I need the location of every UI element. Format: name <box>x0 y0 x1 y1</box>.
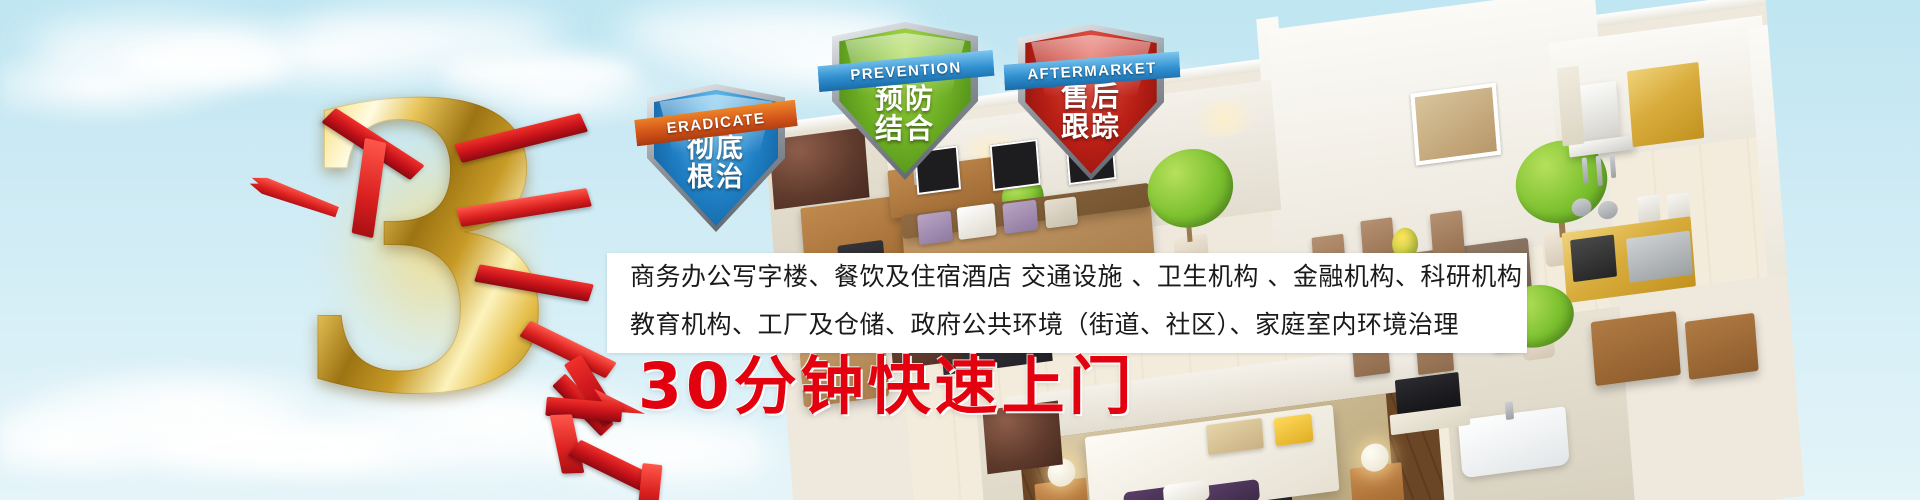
ribbon-arrow-tail-end <box>638 463 663 500</box>
wall-cabinet-gold <box>1627 62 1704 147</box>
sink-basin <box>1626 231 1693 283</box>
service-scope-panel: 商务办公写字楼、餐饮及住宿酒店 交通设施 、卫生机构 、金融机构、科研机构 教育… <box>607 253 1527 353</box>
service-scope-line-2: 教育机构、工厂及仓储、政府公共环境（街道、社区）、家庭室内环境治理 <box>607 301 1527 349</box>
sofa-cushion <box>957 203 997 240</box>
service-scope-line-1: 商务办公写字楼、餐饮及住宿酒店 交通设施 、卫生机构 、金融机构、科研机构 <box>607 253 1527 301</box>
shield-chinese-line2: 跟踪 <box>1018 112 1164 142</box>
side-cabinet <box>1591 311 1681 386</box>
golden-three-graphic: 3 <box>262 78 592 458</box>
shield-chinese-text: 售后 跟踪 <box>1018 82 1164 142</box>
shield-chinese-text: 彻底 根治 <box>647 134 785 192</box>
shield-eradicate: 彻底 根治 ERADICATE <box>647 84 785 232</box>
built-in-oven <box>1570 234 1617 282</box>
golden-three-digit: 3 <box>262 36 592 466</box>
sofa-cushion <box>1044 196 1078 228</box>
shield-banner-label: AFTERMARKET <box>1027 59 1157 83</box>
shield-chinese-line2: 根治 <box>647 163 785 192</box>
sofa-cushion <box>1002 200 1038 234</box>
shield-chinese-text: 预防 结合 <box>832 84 978 144</box>
bath-fixture <box>1505 401 1514 420</box>
bed-throw-yellow <box>1274 413 1314 446</box>
shield-prevention: 预防 结合 PREVENTION <box>832 22 978 180</box>
shield-banner-label: PREVENTION <box>850 59 962 84</box>
shield-chinese-line2: 结合 <box>832 114 978 144</box>
sofa-cushion <box>917 211 953 245</box>
headline-text: 30分钟快速上门 <box>638 355 1136 418</box>
shield-aftermarket: 售后 跟踪 AFTERMARKET <box>1018 24 1164 180</box>
kitchen-stool <box>1637 194 1661 223</box>
dining-wall-art <box>1410 83 1501 166</box>
side-cabinet <box>1685 313 1759 380</box>
promo-banner: 3 彻底 根治 ERADICATE <box>0 0 1920 500</box>
